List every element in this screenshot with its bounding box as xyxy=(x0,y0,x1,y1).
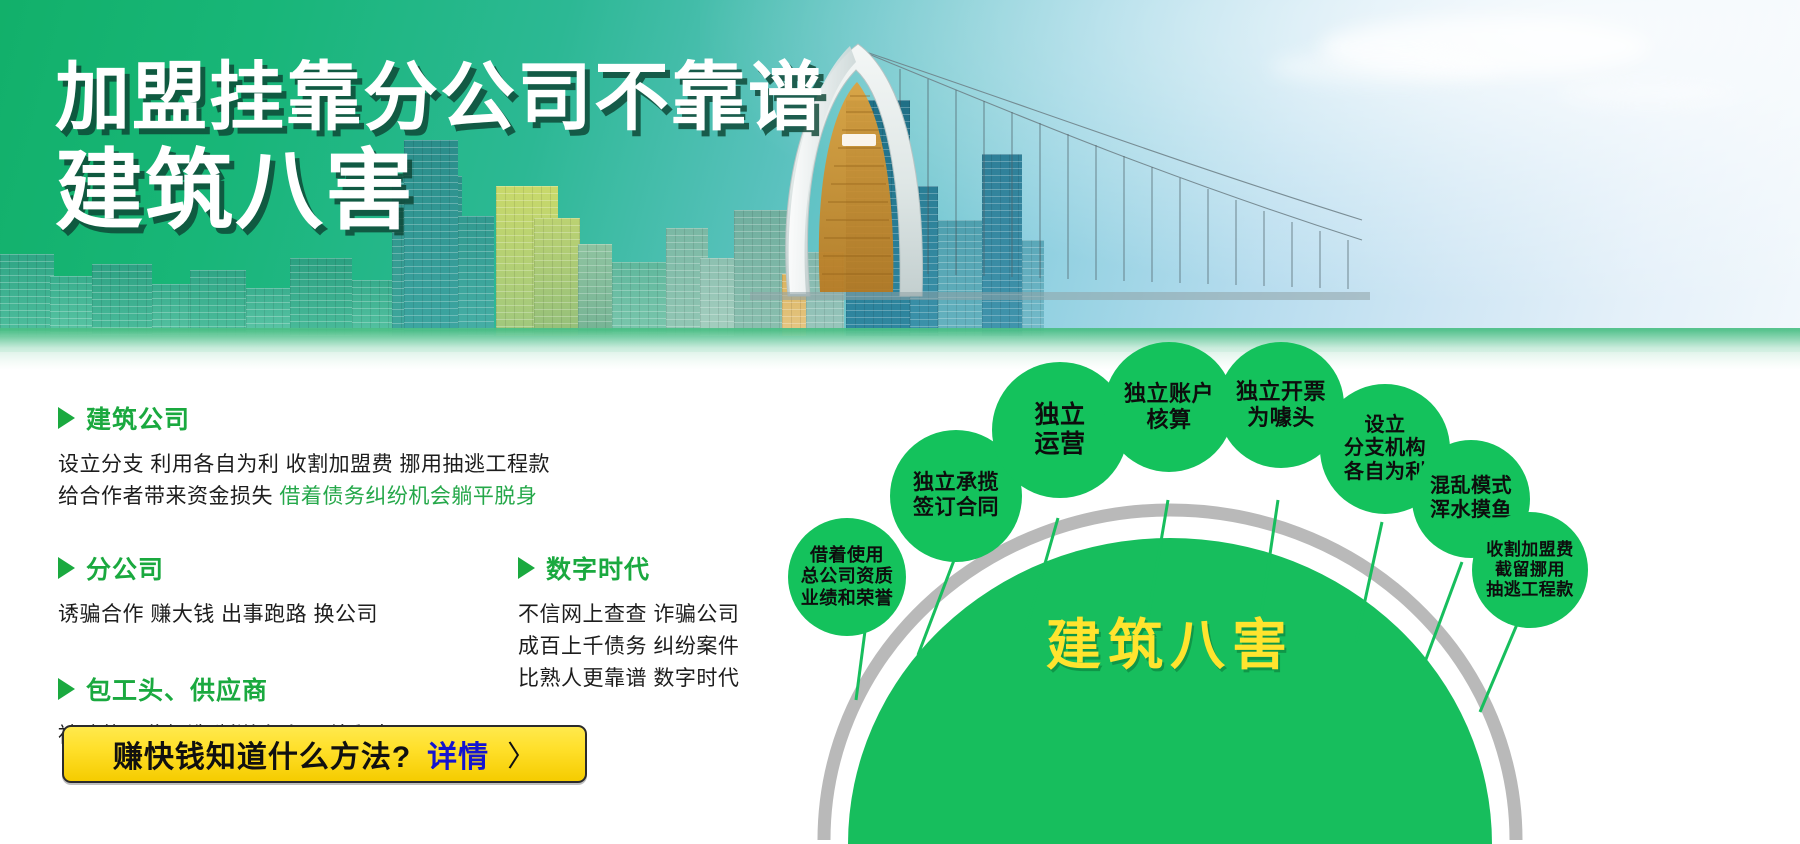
body-line: 比熟人更靠谱 数字时代 xyxy=(518,663,818,695)
body-line: 不信网上查查 诈骗公司 xyxy=(518,599,818,631)
hero-banner: 加盟挂靠分公司不靠谱 建筑八害 xyxy=(0,0,1800,370)
chevron-right-icon: 〉 xyxy=(507,733,536,775)
bridge-illustration xyxy=(750,34,1370,334)
triangle-bullet-icon xyxy=(58,557,75,579)
bubble-item[interactable]: 独立账户 核算 xyxy=(1104,342,1234,472)
body-line: 诱骗合作 赚大钱 出事跑路 换公司 xyxy=(58,599,518,631)
body-line: 设立分支 利用各自为利 收割加盟费 挪用抽逃工程款 xyxy=(58,449,818,481)
headline-line-2: 建筑八害 xyxy=(55,144,825,237)
section-body: 设立分支 利用各自为利 收割加盟费 挪用抽逃工程款 给合作者带来资金损失 借着债… xyxy=(58,449,818,513)
page-title: 加盟挂靠分公司不靠谱 建筑八害 xyxy=(55,58,825,237)
section-body: 不信网上查查 诈骗公司 成百上千债务 纠纷案件 比熟人更靠谱 数字时代 xyxy=(518,599,818,695)
section-digital-era: 数字时代 不信网上查查 诈骗公司 成百上千债务 纠纷案件 比熟人更靠谱 数字时代 xyxy=(518,550,818,695)
bubble-item[interactable]: 收割加盟费 截留挪用 抽逃工程款 xyxy=(1472,512,1588,628)
body-text: 设立分支 利用各自为利 收割加盟费 挪用抽逃工程款 xyxy=(58,453,550,476)
body-line: 给合作者带来资金损失 借着债务纠纷机会躺平脱身 xyxy=(58,481,818,513)
section-heading: 建筑公司 xyxy=(58,400,818,436)
section-body: 诱骗合作 赚大钱 出事跑路 换公司 xyxy=(58,599,518,631)
section-heading: 分公司 xyxy=(58,550,518,586)
cta-link-text[interactable]: 详情 xyxy=(427,732,489,776)
body-line: 成百上千债务 纠纷案件 xyxy=(518,631,818,663)
eight-harms-diagram: 借着使用 总公司资质 业绩和荣誉 独立承揽 签订合同 独立 运营 独立账户 核算… xyxy=(790,340,1800,844)
section-branch-company: 分公司 诱骗合作 赚大钱 出事跑路 换公司 xyxy=(58,550,518,631)
triangle-bullet-icon xyxy=(518,557,535,579)
body-accent-text: 借着债务纠纷机会躺平脱身 xyxy=(279,485,537,508)
details-cta-button[interactable]: 赚快钱知道什么方法? 详情 〉 xyxy=(62,725,587,783)
body-text: 给合作者带来资金损失 xyxy=(58,485,279,508)
section-title: 包工头、供应商 xyxy=(86,671,268,707)
cta-question-text: 赚快钱知道什么方法? xyxy=(113,732,411,776)
section-title: 建筑公司 xyxy=(86,400,190,436)
left-content-column: 建筑公司 设立分支 利用各自为利 收割加盟费 挪用抽逃工程款 给合作者带来资金损… xyxy=(58,400,818,758)
section-title: 数字时代 xyxy=(546,550,650,586)
bubble-item[interactable]: 借着使用 总公司资质 业绩和荣誉 xyxy=(788,518,906,636)
triangle-bullet-icon xyxy=(58,407,75,429)
section-heading: 包工头、供应商 xyxy=(58,671,518,707)
arch-center-label: 建筑八害 xyxy=(970,600,1370,680)
section-heading: 数字时代 xyxy=(518,550,818,586)
headline-line-1: 加盟挂靠分公司不靠谱 xyxy=(55,58,825,138)
triangle-bullet-icon xyxy=(58,678,75,700)
section-title: 分公司 xyxy=(86,550,164,586)
section-construction-company: 建筑公司 设立分支 利用各自为利 收割加盟费 挪用抽逃工程款 给合作者带来资金损… xyxy=(58,400,818,513)
